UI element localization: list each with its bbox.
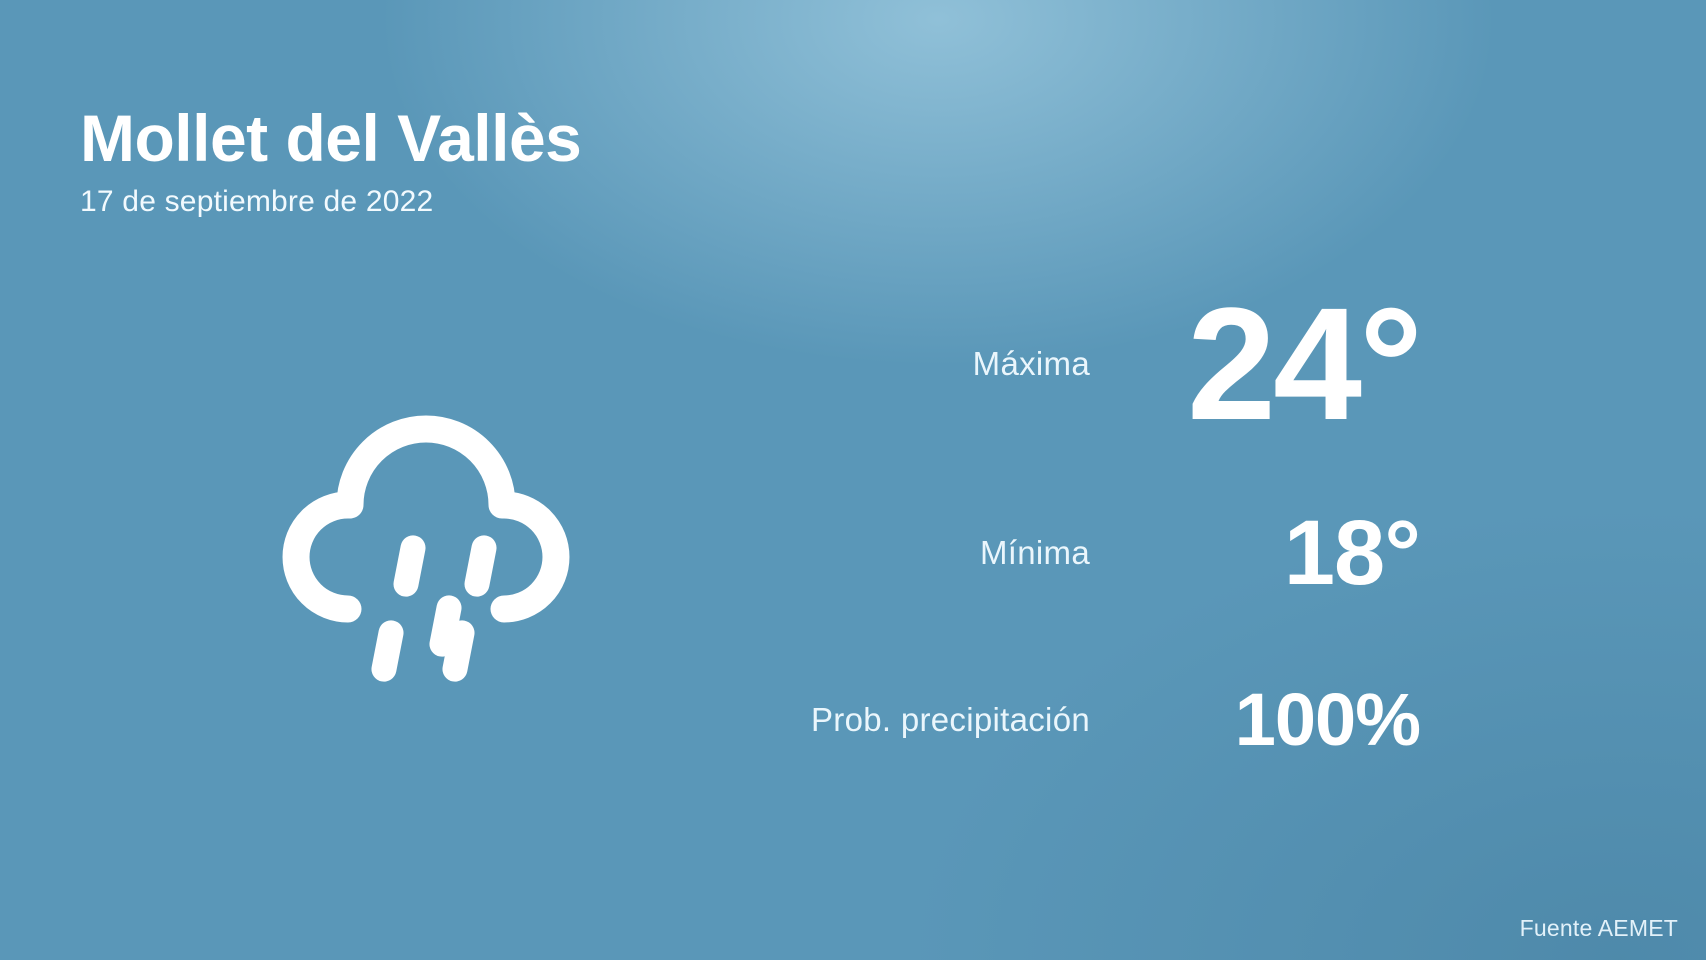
minima-label: Mínima	[980, 534, 1090, 572]
header: Mollet del Vallès 17 de septiembre de 20…	[80, 104, 581, 219]
readings-panel: Máxima 24° Mínima 18° Prob. precipitació…	[360, 268, 1420, 794]
reading-row-precipitacion: Prob. precipitación 100%	[360, 646, 1420, 794]
page-title: Mollet del Vallès	[80, 104, 581, 173]
reading-row-minima: Mínima 18°	[360, 460, 1420, 646]
forecast-date: 17 de septiembre de 2022	[80, 185, 581, 219]
maxima-label: Máxima	[973, 345, 1090, 383]
maxima-value: 24°	[1090, 284, 1420, 444]
reading-row-maxima: Máxima 24°	[360, 268, 1420, 460]
precipitacion-value: 100%	[1090, 683, 1420, 757]
precipitacion-label: Prob. precipitación	[811, 701, 1090, 739]
weather-forecast-card: Mollet del Vallès 17 de septiembre de 20…	[0, 0, 1706, 960]
minima-value: 18°	[1090, 507, 1420, 599]
source-attribution: Fuente AEMET	[1520, 915, 1678, 942]
